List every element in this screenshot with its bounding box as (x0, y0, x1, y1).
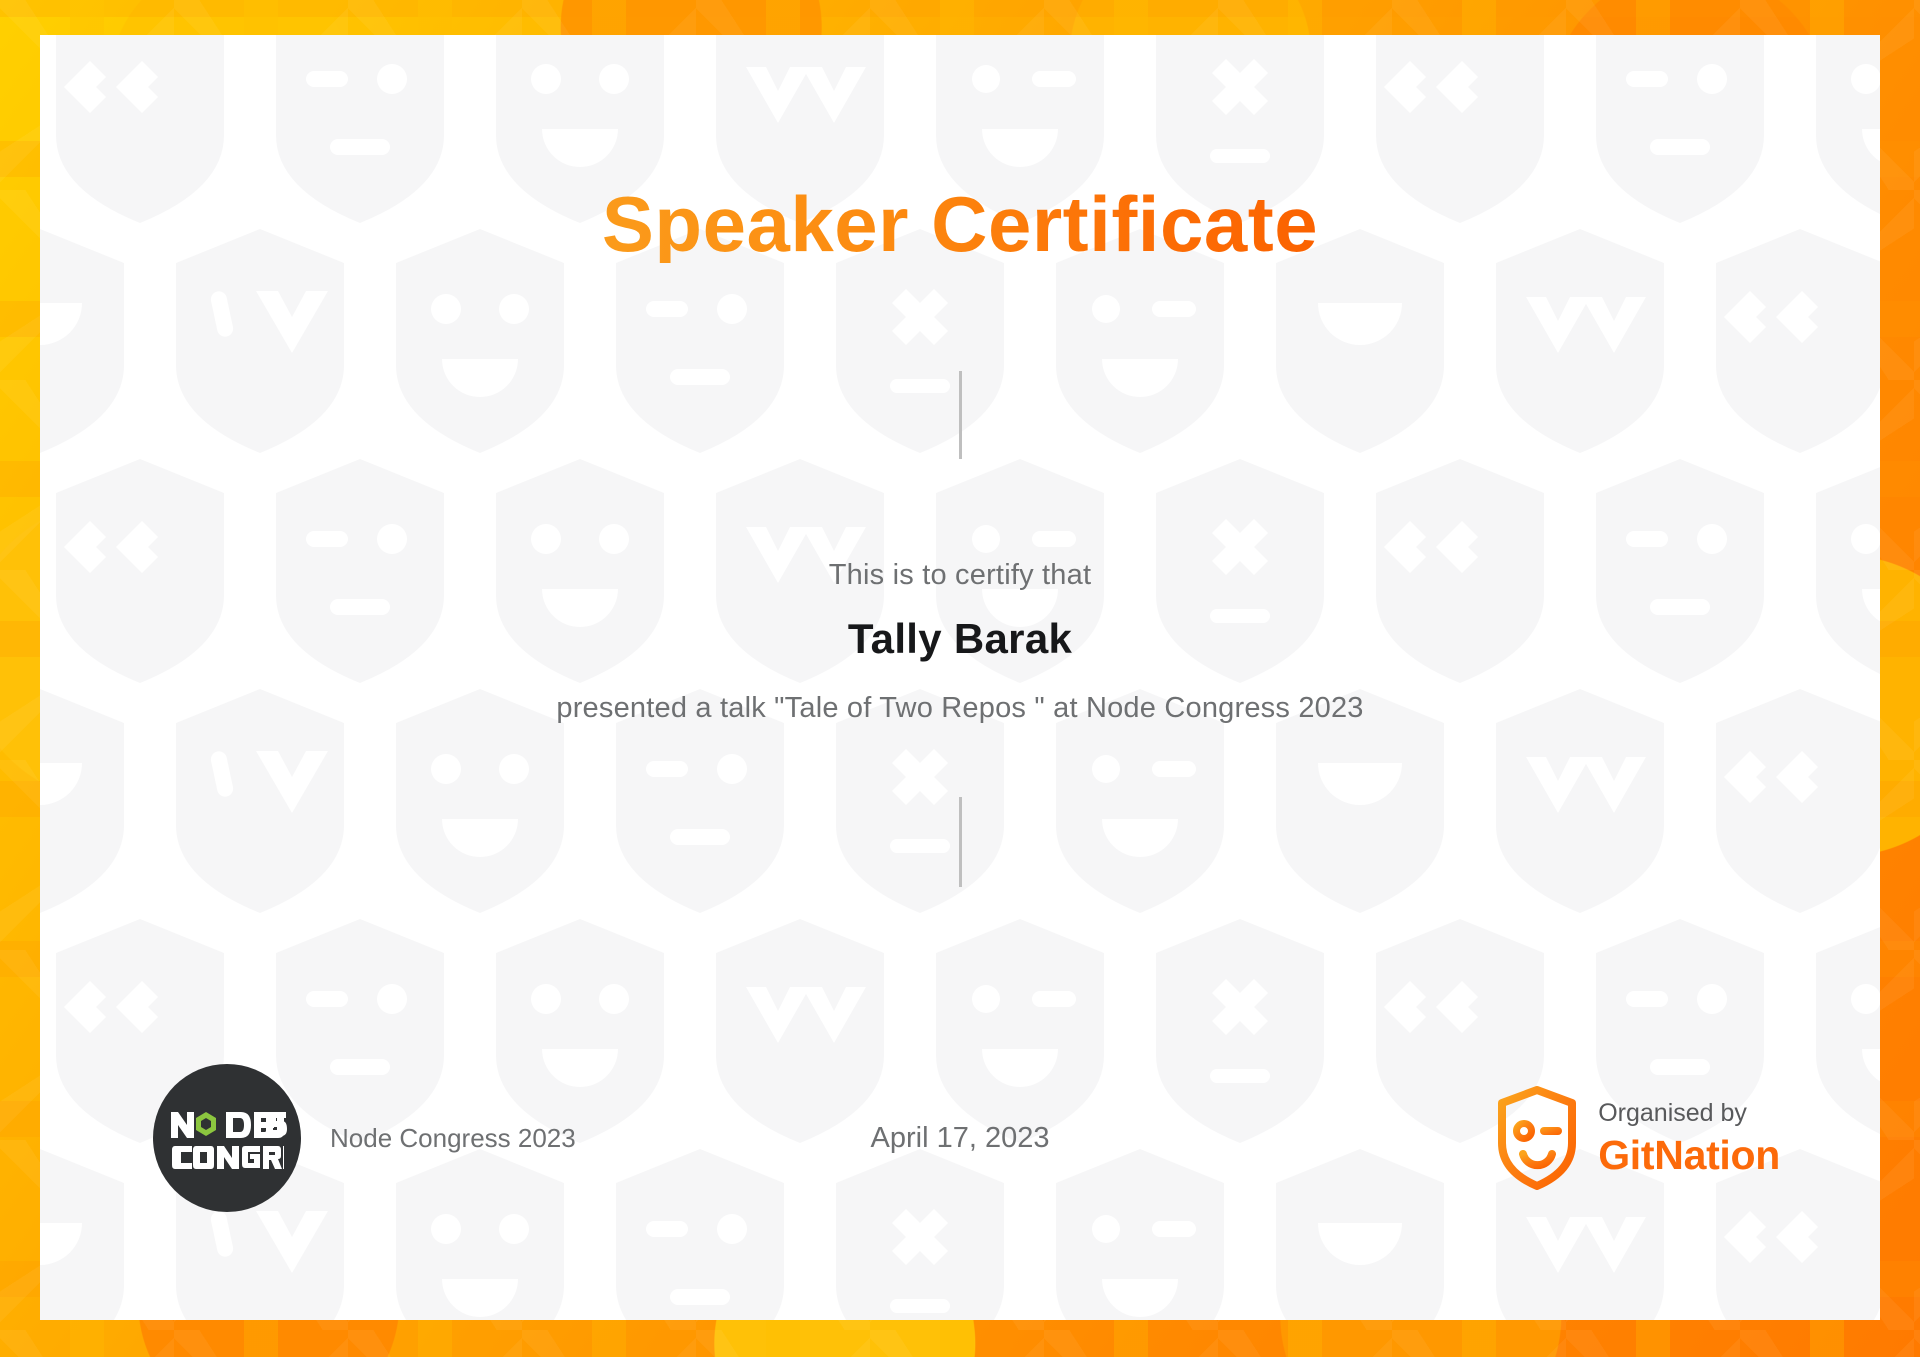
page-title: Speaker Certificate (602, 185, 1318, 263)
talk-description: presented a talk "Tale of Two Repos " at… (556, 692, 1363, 725)
recipient-name: Tally Barak (848, 615, 1072, 663)
organiser-text: Organised by GitNation (1598, 1101, 1780, 1176)
shield-winking-face-icon (1496, 1086, 1578, 1190)
organiser-block: Organised by GitNation (1496, 1086, 1780, 1190)
certificate-card: Speaker Certificate This is to certify t… (40, 35, 1880, 1320)
divider-top (959, 371, 962, 459)
divider-bottom (959, 797, 962, 887)
certify-line: This is to certify that (829, 559, 1091, 592)
organised-by-label: Organised by (1598, 1101, 1780, 1126)
certificate-footer: Node Congress 2023 April 17, 2023 (40, 1068, 1880, 1208)
certificate-root: Speaker Certificate This is to certify t… (0, 0, 1920, 1357)
gitnation-brand: GitNation (1598, 1135, 1780, 1176)
